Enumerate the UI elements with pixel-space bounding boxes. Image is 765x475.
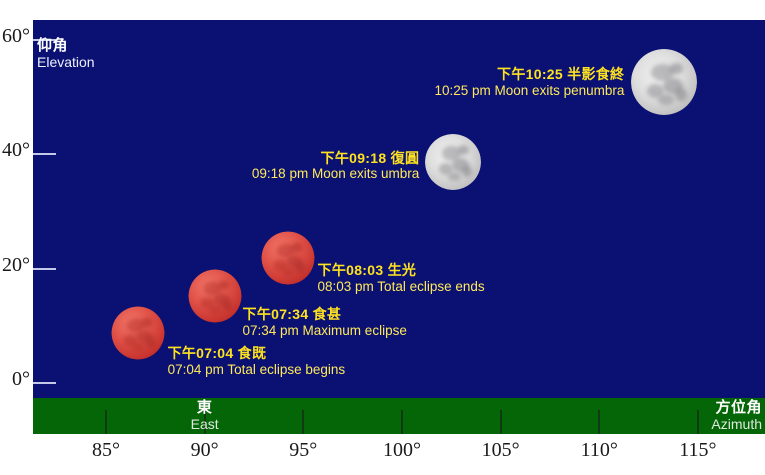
elevation-axis-title-cn: 仰角 [37, 38, 95, 55]
eclipse-path-chart: 0°20°40°60° 85°90°95°100°105°110°115° 仰角… [0, 0, 765, 475]
elevation-tick [33, 153, 56, 155]
azimuth-axis-title: 方位角 Azimuth [711, 400, 762, 432]
azimuth-tick [500, 410, 502, 434]
azimuth-tick [598, 410, 600, 434]
east-label-cn: 東 [191, 400, 219, 417]
moon-mare [296, 263, 306, 274]
azimuth-tick [302, 410, 304, 434]
event-name-cn: 生光 [383, 262, 416, 278]
event-label-en: 07:34 pm Maximum eclipse [243, 323, 407, 339]
event-label-09-18-pm: 下午09:18 復圓09:18 pm Moon exits umbra [252, 150, 419, 182]
east-label-en: East [191, 417, 219, 433]
azimuth-tick-label: 110° [581, 440, 618, 460]
event-name-cn: 食甚 [308, 306, 341, 322]
azimuth-tick-label: 100° [383, 440, 421, 460]
event-time-cn: 下午10:25 [497, 66, 563, 82]
azimuth-tick [401, 410, 403, 434]
event-label-en: 08:03 pm Total eclipse ends [318, 279, 485, 295]
event-label-07-04-pm: 下午07:04 食既07:04 pm Total eclipse begins [168, 345, 346, 377]
moon-mare [146, 338, 156, 349]
azimuth-tick-label: 85° [92, 440, 120, 460]
event-label-en: 10:25 pm Moon exits penumbra [435, 83, 625, 99]
event-time-cn: 下午07:04 [168, 345, 234, 361]
event-time-cn: 下午09:18 [321, 150, 387, 166]
azimuth-axis-title-cn: 方位角 [711, 400, 762, 417]
moon-mare [132, 343, 145, 351]
azimuth-tick-label: 95° [289, 440, 317, 460]
moon-mare [458, 145, 469, 155]
elevation-tick [33, 268, 56, 270]
azimuth-tick [105, 410, 107, 434]
event-name-cn: 復圓 [386, 150, 419, 166]
ground-horizon-band [33, 398, 765, 434]
moon-mare [223, 300, 233, 311]
elevation-tick-label: 0° [12, 369, 30, 389]
moon-marker-07-04-pm [111, 307, 164, 360]
event-time-cn: 下午08:03 [318, 262, 384, 278]
event-label-07-34-pm: 下午07:34 食甚07:34 pm Maximum eclipse [243, 306, 407, 338]
moon-mare [462, 166, 472, 177]
event-label-cn: 下午07:34 食甚 [243, 306, 407, 323]
event-label-08-03-pm: 下午08:03 生光08:03 pm Total eclipse ends [318, 262, 485, 294]
event-label-en: 07:04 pm Total eclipse begins [168, 362, 346, 378]
event-label-cn: 下午10:25 半影食終 [435, 66, 625, 83]
event-label-cn: 下午09:18 復圓 [252, 150, 419, 167]
event-label-10-25-pm: 下午10:25 半影食終10:25 pm Moon exits penumbra [435, 66, 625, 98]
elevation-axis-title: 仰角 Elevation [37, 38, 95, 70]
moon-mare [448, 172, 461, 181]
event-name-cn: 半影食終 [563, 66, 624, 82]
azimuth-tick-label: 90° [191, 440, 219, 460]
elevation-tick-label: 20° [2, 255, 30, 275]
elevation-tick-label: 60° [2, 26, 30, 46]
event-label-cn: 下午07:04 食既 [168, 345, 346, 362]
elevation-axis-title-en: Elevation [37, 55, 95, 71]
azimuth-axis-title-en: Azimuth [711, 417, 762, 433]
moon-mare [209, 306, 222, 314]
azimuth-tick [697, 410, 699, 434]
moon-marker-08-03-pm [261, 232, 314, 285]
azimuth-tick-label: 115° [679, 440, 716, 460]
event-label-en: 09:18 pm Moon exits umbra [252, 166, 419, 182]
moon-marker-09-18-pm [425, 134, 481, 190]
elevation-tick-label: 40° [2, 140, 30, 160]
moon-marker-10-25-pm [631, 49, 697, 115]
elevation-tick [33, 382, 56, 384]
event-name-cn: 食既 [233, 345, 266, 361]
east-direction-label: 東 East [191, 400, 219, 432]
event-time-cn: 下午07:34 [243, 306, 309, 322]
azimuth-tick-label: 105° [482, 440, 520, 460]
event-label-cn: 下午08:03 生光 [318, 262, 485, 279]
moon-mare [282, 268, 295, 276]
moon-marker-07-34-pm [188, 270, 241, 323]
